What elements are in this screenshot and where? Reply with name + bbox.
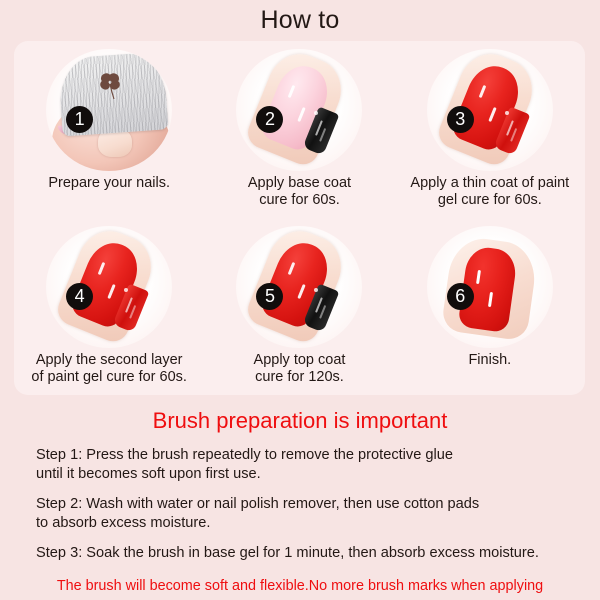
nail-illustration [427,49,553,171]
brush-section-heading: Brush preparation is important [14,408,586,434]
step-5-photo: 5 [236,226,362,348]
step-caption: Apply base coat cure for 60s. [204,175,394,208]
clover-icon [98,71,122,101]
nail-illustration [427,226,553,348]
nail-illustration [236,49,362,171]
step-caption: Apply the second layer of paint gel cure… [14,352,204,385]
steps-panel: 1 Prepare your nails. 2 Apply base coat … [14,41,585,395]
nail-illustration [46,226,172,348]
step-number-badge: 3 [447,106,474,133]
step-caption: Finish. [395,352,585,369]
step-1-photo: 1 [46,49,172,171]
step-number-badge: 1 [66,106,93,133]
step-card-6: 6 Finish. [395,218,585,395]
step-number-badge: 4 [66,283,93,310]
step-card-1: 1 Prepare your nails. [14,41,204,218]
brush-step-1: Step 1: Press the brush repeatedly to re… [36,446,586,484]
brush-highlight [505,111,509,115]
step-card-4: 4 Apply the second layer of paint gel cu… [14,218,204,395]
step-caption: Apply a thin coat of paint gel cure for … [395,175,585,208]
step-number-badge: 6 [447,283,474,310]
brush-step-2: Step 2: Wash with water or nail polish r… [36,495,586,533]
brush-preparation-section: Brush preparation is important Step 1: P… [0,408,600,595]
step-caption: Apply top coat cure for 120s. [204,352,394,385]
step-caption: Prepare your nails. [14,175,204,192]
nail-illustration [236,226,362,348]
brush-section-note: The brush will become soft and flexible.… [14,577,586,595]
step-card-2: 2 Apply base coat cure for 60s. [204,41,394,218]
step-card-3: 3 Apply a thin coat of paint gel cure fo… [395,41,585,218]
brush-step-3: Step 3: Soak the brush in base gel for 1… [36,544,586,563]
step-2-photo: 2 [236,49,362,171]
step-3-photo: 3 [427,49,553,171]
step-4-photo: 4 [46,226,172,348]
step-card-5: 5 Apply top coat cure for 120s. [204,218,394,395]
page-title: How to [0,6,600,35]
step-6-photo: 6 [427,226,553,348]
steps-grid: 1 Prepare your nails. 2 Apply base coat … [14,41,585,395]
